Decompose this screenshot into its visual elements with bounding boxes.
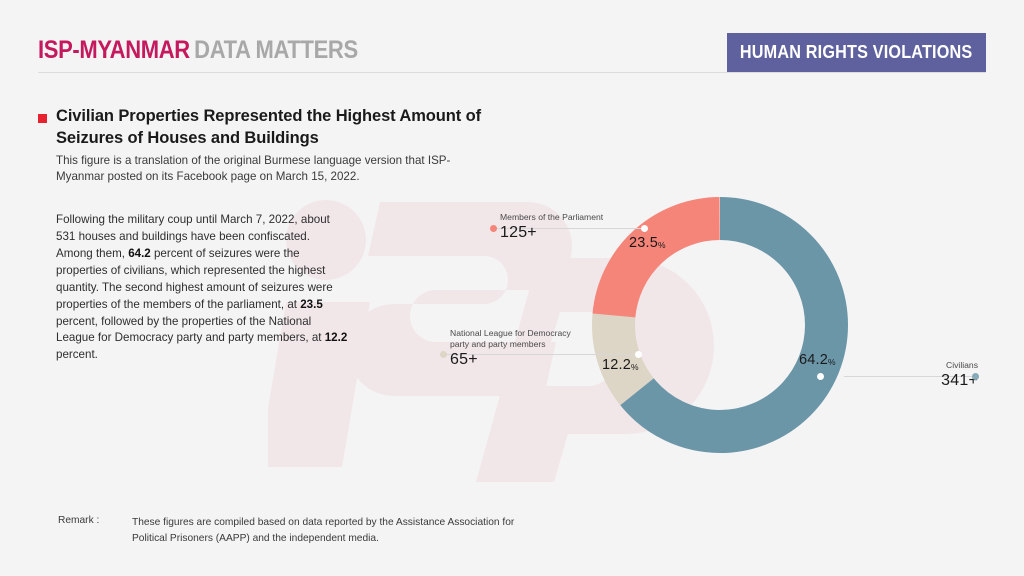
callout-mp-title: Members of the Parliament xyxy=(500,212,603,223)
callout-civilians: Civilians 341+ xyxy=(900,360,978,390)
brand-primary: ISP-MYANMAR xyxy=(38,36,190,64)
callout-civ-value: 341+ xyxy=(900,372,978,390)
callout-nld-value: 65+ xyxy=(450,351,571,369)
callout-nld-title-line2: party and party members xyxy=(450,339,571,350)
donut-chart xyxy=(560,165,880,485)
slice-percent-nld: 12.2% xyxy=(602,357,639,373)
remark-label: Remark : xyxy=(58,515,99,526)
callout-national-league-for-democracy: National League for Democracy party and … xyxy=(450,328,571,369)
arc-marker-mp xyxy=(641,225,648,232)
headline-bullet-icon xyxy=(38,114,47,123)
slice-percent-mp: 23.5% xyxy=(629,235,666,251)
body-paragraph: Following the military coup until March … xyxy=(56,212,348,364)
body-emphasis-1: 64.2 xyxy=(128,247,151,260)
header-divider xyxy=(38,72,986,73)
callout-dot-civilians xyxy=(972,373,979,380)
category-badge-label: HUMAN RIGHTS VIOLATIONS xyxy=(740,42,972,63)
callout-members-of-parliament: Members of the Parliament 125+ xyxy=(500,212,603,242)
page-subtitle: This figure is a translation of the orig… xyxy=(56,153,496,186)
callout-nld-title-line1: National League for Democracy xyxy=(450,328,571,339)
callout-dot-mp xyxy=(490,225,497,232)
page-header: ISP-MYANMARDATA MATTERS HUMAN RIGHTS VIO… xyxy=(0,0,1024,84)
brand-logo: ISP-MYANMARDATA MATTERS xyxy=(38,36,358,65)
remark-text: These figures are compiled based on data… xyxy=(132,515,552,547)
body-part-3: percent, followed by the properties of t… xyxy=(56,315,325,345)
callout-dot-nld xyxy=(440,351,447,358)
body-part-4: percent. xyxy=(56,348,98,361)
slice-percent-civilians: 64.2% xyxy=(799,352,836,368)
body-emphasis-3: 12.2 xyxy=(325,331,348,344)
body-emphasis-2: 23.5 xyxy=(300,298,323,311)
brand-secondary: DATA MATTERS xyxy=(194,36,358,64)
arc-marker-nld xyxy=(635,351,642,358)
page-title: Civilian Properties Represented the High… xyxy=(56,106,486,150)
callout-civ-title: Civilians xyxy=(900,360,978,371)
callout-mp-value: 125+ xyxy=(500,224,603,242)
category-badge: HUMAN RIGHTS VIOLATIONS xyxy=(727,33,986,72)
arc-marker-civilians xyxy=(817,373,824,380)
